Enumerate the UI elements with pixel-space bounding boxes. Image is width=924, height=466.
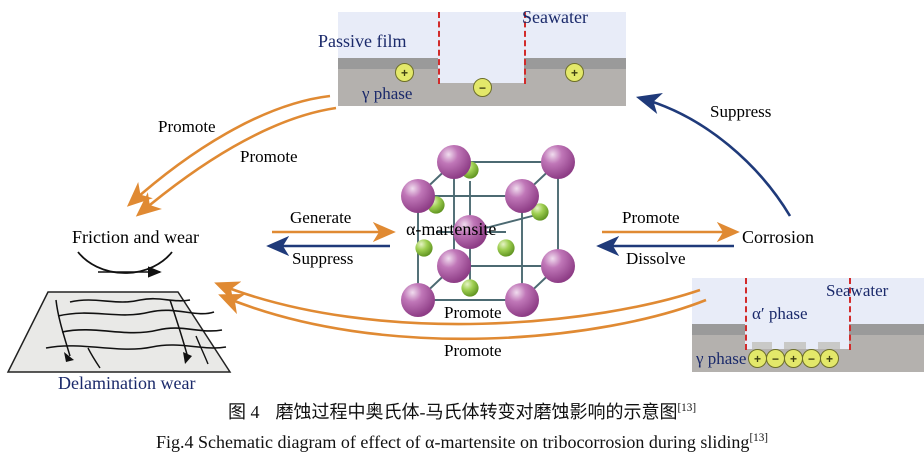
caption-chinese-ref: [13] (677, 402, 696, 414)
interstitial-atom-green (497, 239, 514, 256)
lattice-atom-purple (437, 249, 471, 283)
caption-chinese-prefix: 图 4 (228, 402, 260, 422)
node-label-friction-and-wear: Friction and wear (72, 228, 199, 246)
arrow-label-suppress-curved: Suppress (710, 103, 771, 120)
caption-english: Fig.4 Schematic diagram of effect of α-m… (0, 432, 924, 453)
lattice-atom-purple (541, 145, 575, 179)
arrow-label-promote-lower-outer: Promote (444, 342, 502, 359)
arrow-label-dissolve: Dissolve (626, 250, 686, 267)
lattice-atom-purple (437, 145, 471, 179)
figure-canvas: + − + Seawater Passive film γ phase Seaw… (0, 0, 924, 466)
interstitial-atom-green (415, 239, 432, 256)
caption-english-ref: [13] (749, 432, 768, 444)
arrow-label-generate: Generate (290, 209, 351, 226)
arrow-label-promote-right: Promote (622, 209, 680, 226)
delamination-wear-illustration (8, 252, 230, 372)
arrow-label-promote-lower-inner: Promote (444, 304, 502, 321)
caption-english-text: Fig.4 Schematic diagram of effect of α-m… (156, 432, 749, 452)
lattice-atom-purple (541, 249, 575, 283)
lattice-atom-purple (505, 283, 539, 317)
arrow-label-suppress-center: Suppress (292, 250, 353, 267)
arrow-label-promote-upper-outer: Promote (158, 118, 216, 135)
lattice-atom-purple (505, 179, 539, 213)
lattice-atom-purple (401, 179, 435, 213)
node-label-corrosion: Corrosion (742, 228, 814, 246)
node-label-alpha-martensite: α-martensite (406, 220, 496, 238)
caption-chinese: 图 4磨蚀过程中奥氏体-马氏体转变对磨蚀影响的示意图[13] (0, 398, 924, 424)
interstitial-atom-green (461, 279, 478, 296)
node-label-delamination-wear: Delamination wear (58, 374, 195, 392)
arrow-label-promote-upper-inner: Promote (240, 148, 298, 165)
lattice-atom-purple (401, 283, 435, 317)
caption-chinese-text: 磨蚀过程中奥氏体-马氏体转变对磨蚀影响的示意图 (275, 402, 677, 422)
